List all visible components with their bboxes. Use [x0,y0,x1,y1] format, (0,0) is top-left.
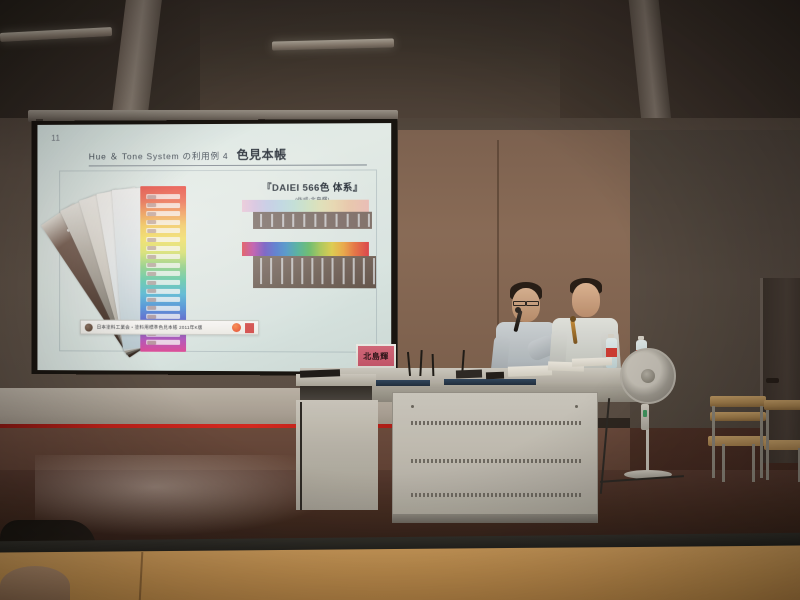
presenter-right-head [572,283,600,317]
fan-color-chip [146,288,180,293]
cabinet-vent [411,493,581,497]
strip-tick-label [281,258,283,284]
strip-tick-label [301,258,303,284]
table-device [456,370,482,379]
strip-tick-label [363,258,365,284]
bottle-cap [608,334,614,338]
fan-color-chip [146,220,180,225]
strip-tick-label [271,214,273,227]
glasses-icon [526,301,539,306]
banner-text: 日本塗料工業会・塗料用標準色見本帳 2011年K版 [97,324,228,330]
slide-number: 11 [51,134,60,143]
strip-tick-label [368,214,370,227]
pale-tint-strip [242,200,369,212]
fan-color-chip [146,203,180,208]
strip-tick-label [332,258,334,284]
table-device [486,372,504,380]
cabinet-base [392,514,598,523]
vivid-strip-labels [253,256,376,288]
banner-dot-icon [85,323,93,331]
strip-tick-label [353,258,355,284]
vivid-hue-strip [242,242,369,256]
fan-color-chip [146,314,180,319]
lectern-side [296,400,378,510]
fan-color-chip [146,194,180,199]
fan-color-chip [146,297,180,302]
fan-color-chip [146,280,180,285]
cabinet-vent [411,421,581,425]
av-cabinet [392,392,598,520]
strip-tick-label [260,214,262,227]
fan-color-chip [146,228,180,233]
fan-color-chip [146,271,180,276]
paper-documents [572,357,612,366]
strip-tick-label [271,258,273,284]
fan-power-led-icon [643,410,647,417]
strip-tick-label [292,214,294,227]
cabinet-screw [575,405,578,408]
slide-title-prefix: Hue ＆ Tone System の利用例 4 [89,150,229,163]
nameplate: 北島輝 [356,344,396,368]
fan-color-chip [146,306,180,311]
fan-color-chip [146,263,180,268]
cable [300,402,302,510]
strip-tick-label [336,214,338,227]
strip-tick-label [314,214,316,227]
bottle-cap [638,336,644,340]
strip-tick-label [303,214,305,227]
strip-tick-label [373,258,375,284]
fan-color-chip [146,254,180,259]
paper-documents [508,365,552,377]
cabinet-screw [411,405,414,408]
table-trim [444,379,536,385]
banner-tag-icon [245,323,254,333]
fan-color-chip [146,211,180,216]
strip-tick-label [357,214,359,227]
fan-control-panel[interactable] [641,404,649,430]
wooden-chair[interactable] [708,396,768,486]
strip-tick-label [291,258,293,284]
cabinet-vent [411,459,581,463]
strip-tick-label [342,258,344,284]
strip-tick-label [347,214,349,227]
ceiling-shadow-left [0,0,200,120]
foreground-desk [0,545,800,600]
strip-tick-label [282,214,284,227]
wooden-chair[interactable] [764,398,800,486]
door-handle-icon[interactable] [766,378,779,383]
projection-screen-frame: 11 Hue ＆ Tone System の利用例 4 色見本帳 『DAIEI … [32,119,398,376]
fan-color-chip [146,246,180,251]
microphone-head-icon [570,316,576,322]
lectern-equipment [300,369,340,377]
fan-hub [641,369,655,383]
slide-banner: 日本塗料工業会・塗料用標準色見本帳 2011年K版 [80,320,259,336]
microphone-head-icon [515,307,521,313]
lecture-hall-photo: 11 Hue ＆ Tone System の利用例 4 色見本帳 『DAIEI … [0,0,800,600]
pale-strip-labels [253,212,372,229]
strip-tick-label [260,258,262,284]
nameplate-text: 北島輝 [363,351,389,362]
strip-tick-label [325,214,327,227]
bottle-label [606,348,617,357]
projection-screen: 11 Hue ＆ Tone System の利用例 4 色見本帳 『DAIEI … [37,123,391,372]
foreground-head [0,566,70,600]
slide-subtitle: 『DAIEI 566色 体系』 [248,180,377,194]
fan-color-chip [146,340,180,345]
strip-tick-label [311,258,313,284]
glasses-icon [513,301,526,306]
banner-sun-icon [232,323,241,332]
slide-title-main: 色見本帳 [236,146,286,163]
slide-title: Hue ＆ Tone System の利用例 4 色見本帳 [89,145,367,166]
ceiling-shadow-right [560,0,800,135]
strip-tick-label [322,258,324,284]
fan-color-chip [146,237,180,242]
